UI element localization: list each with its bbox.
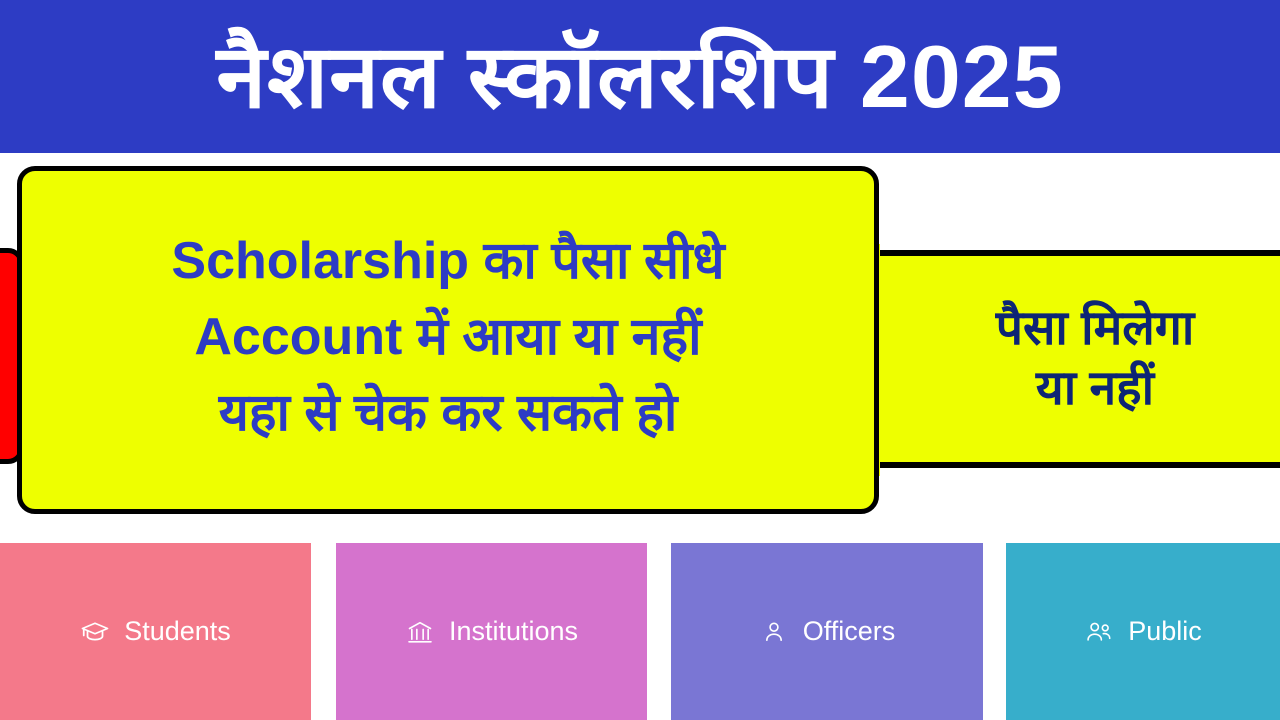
card-institutions[interactable]: Institutions (336, 543, 647, 720)
card-institutions-label: Institutions (449, 618, 578, 645)
card-public-label: Public (1128, 618, 1202, 645)
callout-line-3: यहा से चेक कर सकते हो (219, 376, 678, 452)
card-officers[interactable]: Officers (671, 543, 983, 720)
card-officers-label: Officers (803, 618, 896, 645)
card-public[interactable]: Public (1006, 543, 1280, 720)
right-panel-line-1: पैसा मिलेगा (996, 299, 1195, 359)
page-root: नैशनल स्कॉलरशिप 2025 पैसा मिलेगा या नहीं… (0, 0, 1280, 720)
card-students-label: Students (124, 618, 231, 645)
graduation-cap-icon (80, 617, 110, 647)
right-panel-line-2: या नहीं (1036, 359, 1154, 419)
header-banner: नैशनल स्कॉलरशिप 2025 (0, 0, 1280, 153)
main-callout-box: Scholarship का पैसा सीधे Account में आया… (17, 166, 879, 514)
person-icon (759, 617, 789, 647)
people-group-icon (1084, 617, 1114, 647)
category-cards-row: Students Institutions Officers (0, 543, 1280, 720)
callout-line-1: Scholarship का पैसा सीधे (171, 224, 724, 300)
bank-building-icon (405, 617, 435, 647)
callout-line-2: Account में आया या नहीं (194, 300, 701, 376)
page-title: नैशनल स्कॉलरशिप 2025 (0, 0, 1280, 153)
card-students[interactable]: Students (0, 543, 311, 720)
right-highlight-panel: पैसा मिलेगा या नहीं (860, 250, 1280, 468)
